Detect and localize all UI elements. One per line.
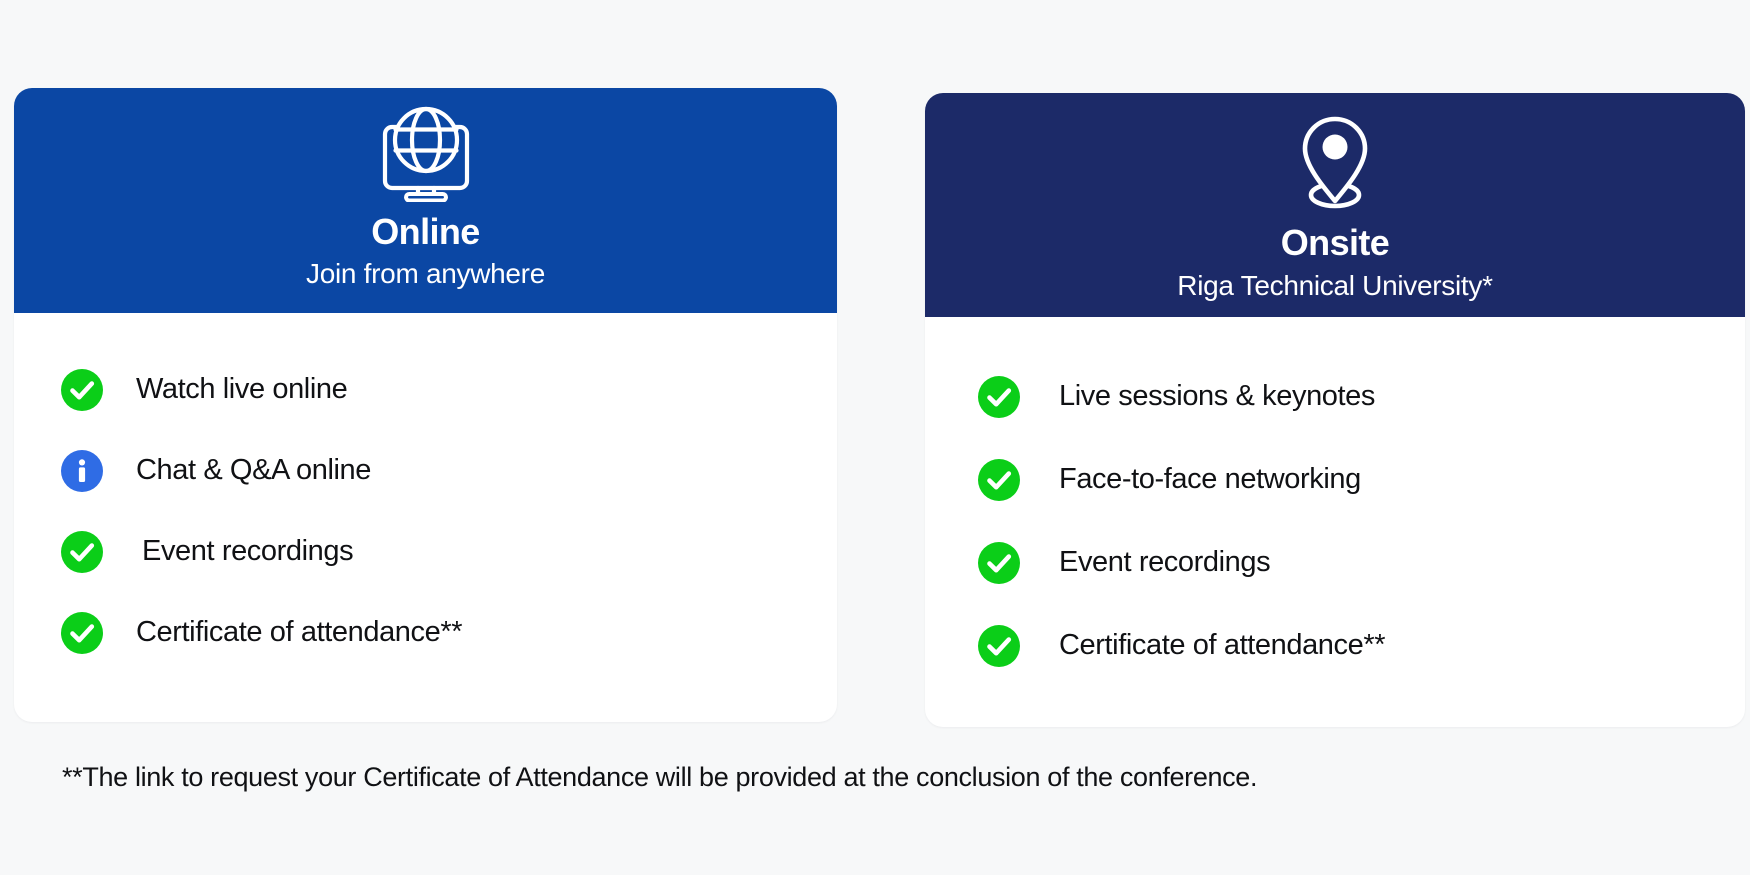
onsite-attendance-card: Onsite Riga Technical University* Live s… <box>925 93 1745 727</box>
list-item: Face-to-face networking <box>977 438 1745 521</box>
check-circle-icon <box>60 368 104 412</box>
globe-monitor-icon <box>378 104 474 207</box>
onsite-card-subtitle: Riga Technical University* <box>1177 269 1492 303</box>
online-card-subtitle: Join from anywhere <box>306 257 545 291</box>
online-feature-list: Watch live online Chat & Q&A online <box>14 313 837 673</box>
info-circle-icon <box>60 449 104 493</box>
check-circle-icon <box>977 375 1021 419</box>
list-item-label: Watch live online <box>136 373 347 406</box>
check-circle-icon <box>977 458 1021 502</box>
onsite-feature-list: Live sessions & keynotes Face-to-face ne… <box>925 317 1745 687</box>
online-card-header: Online Join from anywhere <box>14 88 837 313</box>
online-card-title: Online <box>371 213 479 251</box>
list-item: Certificate of attendance** <box>977 604 1745 687</box>
onsite-card-title: Onsite <box>1281 224 1389 262</box>
list-item-label: Face-to-face networking <box>1059 463 1361 496</box>
list-item: Chat & Q&A online <box>60 430 837 511</box>
check-circle-icon <box>60 530 104 574</box>
list-item: Certificate of attendance** <box>60 592 837 673</box>
check-circle-icon <box>977 624 1021 668</box>
list-item: Event recordings <box>60 511 837 592</box>
list-item-label: Certificate of attendance** <box>136 616 462 649</box>
list-item: Watch live online <box>60 349 837 430</box>
onsite-card-header: Onsite Riga Technical University* <box>925 93 1745 317</box>
list-item-label: Chat & Q&A online <box>136 454 371 487</box>
map-pin-icon <box>1293 113 1377 216</box>
certificate-footnote: **The link to request your Certificate o… <box>62 762 1257 793</box>
list-item-label: Event recordings <box>1059 546 1270 579</box>
attendance-options-panel: Online Join from anywhere Watch live onl… <box>0 0 1750 875</box>
list-item: Live sessions & keynotes <box>977 355 1745 438</box>
list-item-label: Event recordings <box>142 535 353 568</box>
list-item: Event recordings <box>977 521 1745 604</box>
check-circle-icon <box>60 611 104 655</box>
list-item-label: Certificate of attendance** <box>1059 629 1385 662</box>
list-item-label: Live sessions & keynotes <box>1059 380 1375 413</box>
check-circle-icon <box>977 541 1021 585</box>
online-attendance-card: Online Join from anywhere Watch live onl… <box>14 88 837 722</box>
